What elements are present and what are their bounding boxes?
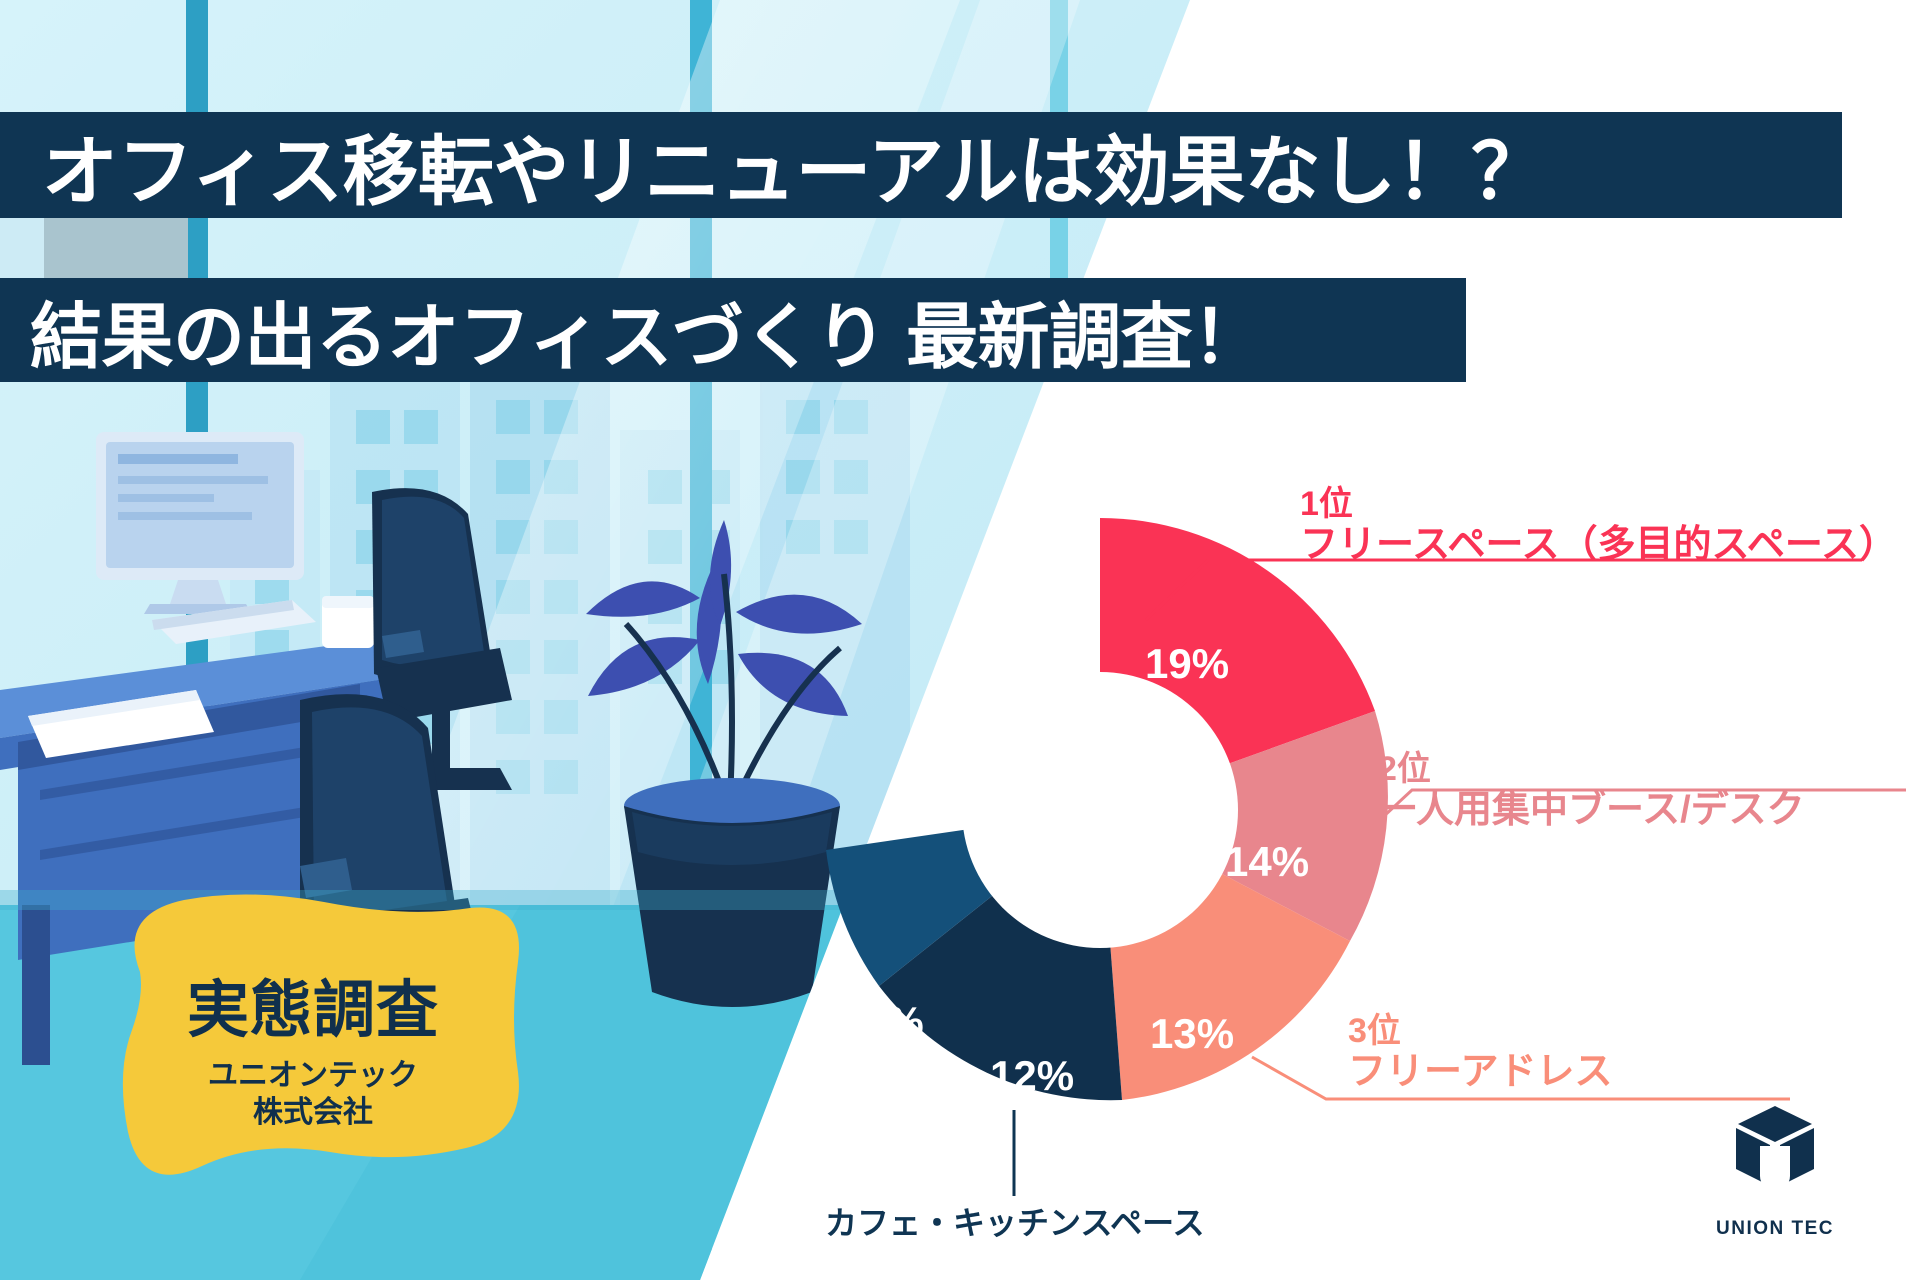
- donut-chart-svg: [790, 500, 1410, 1120]
- headline-primary: オフィス移転やリニューアルは効果なし！？: [0, 112, 1842, 218]
- callout-rank-1: 1位 フリースペース（多目的スペース）: [1300, 485, 1897, 568]
- callout-cafe-kitchen: カフェ・キッチンスペース: [825, 1205, 1205, 1242]
- callout-rank-3: 3位 フリーアドレス: [1348, 1012, 1612, 1095]
- callout-rank-3-name: フリーアドレス: [1348, 1051, 1612, 1095]
- callout-rank-2: 2位 一人用集中ブース/デスク: [1378, 750, 1805, 833]
- callout-cafe-kitchen-name: カフェ・キッチンスペース: [825, 1205, 1205, 1242]
- survey-badge: 実態調査 ユニオンテック 株式会社: [98, 880, 528, 1210]
- callout-rank-3-rank: 3位: [1348, 1012, 1612, 1051]
- badge-company-line1: ユニオンテック: [208, 1057, 418, 1095]
- badge-text-group: 実態調査 ユニオンテック 株式会社: [98, 880, 528, 1210]
- donut-chart: [790, 500, 1410, 1120]
- uniontec-logo: UNION TEC: [1700, 1100, 1850, 1240]
- callout-rank-2-rank: 2位: [1378, 750, 1805, 789]
- callout-rank-1-rank: 1位: [1300, 485, 1897, 524]
- badge-company-line2: 株式会社: [253, 1094, 373, 1132]
- callout-rank-1-name: フリースペース（多目的スペース）: [1300, 524, 1897, 568]
- uniontec-mark-icon: [1700, 1100, 1850, 1210]
- infographic-canvas: オフィス移転やリニューアルは効果なし！？ 結果の出るオフィスづくり 最新調査！ …: [0, 0, 1920, 1280]
- donut-hole: [962, 672, 1238, 948]
- headline-secondary: 結果の出るオフィスづくり 最新調査！: [0, 278, 1466, 382]
- callout-rank-2-name: 一人用集中ブース/デスク: [1378, 789, 1805, 833]
- badge-title: 実態調査: [187, 959, 439, 1049]
- uniontec-wordmark: UNION TEC: [1700, 1218, 1850, 1240]
